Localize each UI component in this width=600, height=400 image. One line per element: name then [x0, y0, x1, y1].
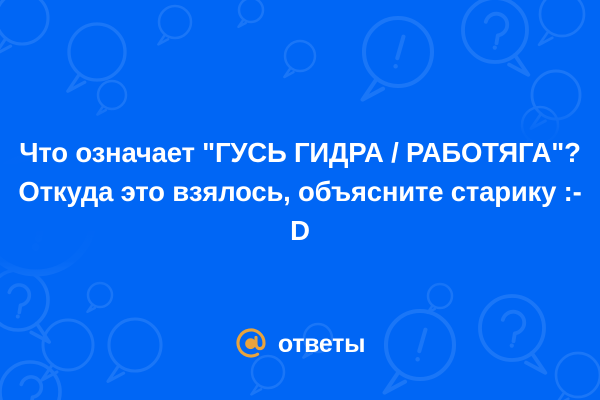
answers-share-card: Что означает "ГУСЬ ГИДРА / РАБОТЯГА"? От…: [0, 0, 600, 400]
at-sign-icon: [235, 328, 267, 360]
brand-logo[interactable]: ответы: [0, 328, 600, 360]
page-title: Что означает "ГУСЬ ГИДРА / РАБОТЯГА"? От…: [0, 133, 600, 250]
brand-logo-text: ответы: [278, 332, 365, 357]
